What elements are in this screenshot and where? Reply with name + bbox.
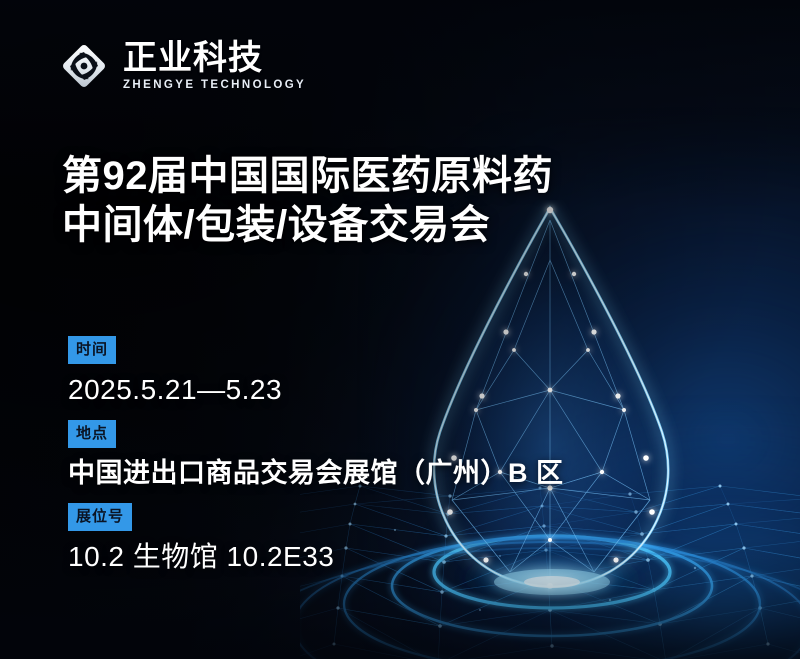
exhibition-poster: 正业科技 ZHENGYE TECHNOLOGY 第92届中国国际医药原料药 中间… — [0, 0, 800, 659]
badge-time: 时间 — [68, 336, 116, 364]
headline-line-1: 第92届中国国际医药原料药 — [62, 152, 682, 201]
event-info-list: 时间 2025.5.21—5.23 地点 中国进出口商品交易会展馆（广州）B 区… — [68, 336, 668, 573]
value-event-booth: 10.2 生物馆 10.2E33 — [68, 541, 668, 573]
badge-booth: 展位号 — [68, 503, 132, 531]
value-event-time: 2025.5.21—5.23 — [68, 374, 668, 406]
brand-name-en: ZHENGYE TECHNOLOGY — [123, 79, 306, 91]
page-title: 第92届中国国际医药原料药 中间体/包装/设备交易会 — [62, 152, 682, 250]
logo-svg — [58, 40, 110, 92]
info-item-event-venue: 地点 中国进出口商品交易会展馆（广州）B 区 — [68, 420, 668, 489]
zhengye-diamond-swirl-icon — [58, 40, 110, 92]
logo-text-block: 正业科技 ZHENGYE TECHNOLOGY — [123, 41, 306, 92]
info-item-event-booth: 展位号 10.2 生物馆 10.2E33 — [68, 503, 668, 573]
badge-venue: 地点 — [68, 420, 116, 448]
brand-logo[interactable]: 正业科技 ZHENGYE TECHNOLOGY — [58, 40, 306, 92]
brand-name-cn: 正业科技 — [123, 41, 306, 77]
info-item-event-time: 时间 2025.5.21—5.23 — [68, 336, 668, 406]
headline-line-2: 中间体/包装/设备交易会 — [62, 201, 682, 250]
value-event-venue: 中国进出口商品交易会展馆（广州）B 区 — [68, 458, 668, 489]
